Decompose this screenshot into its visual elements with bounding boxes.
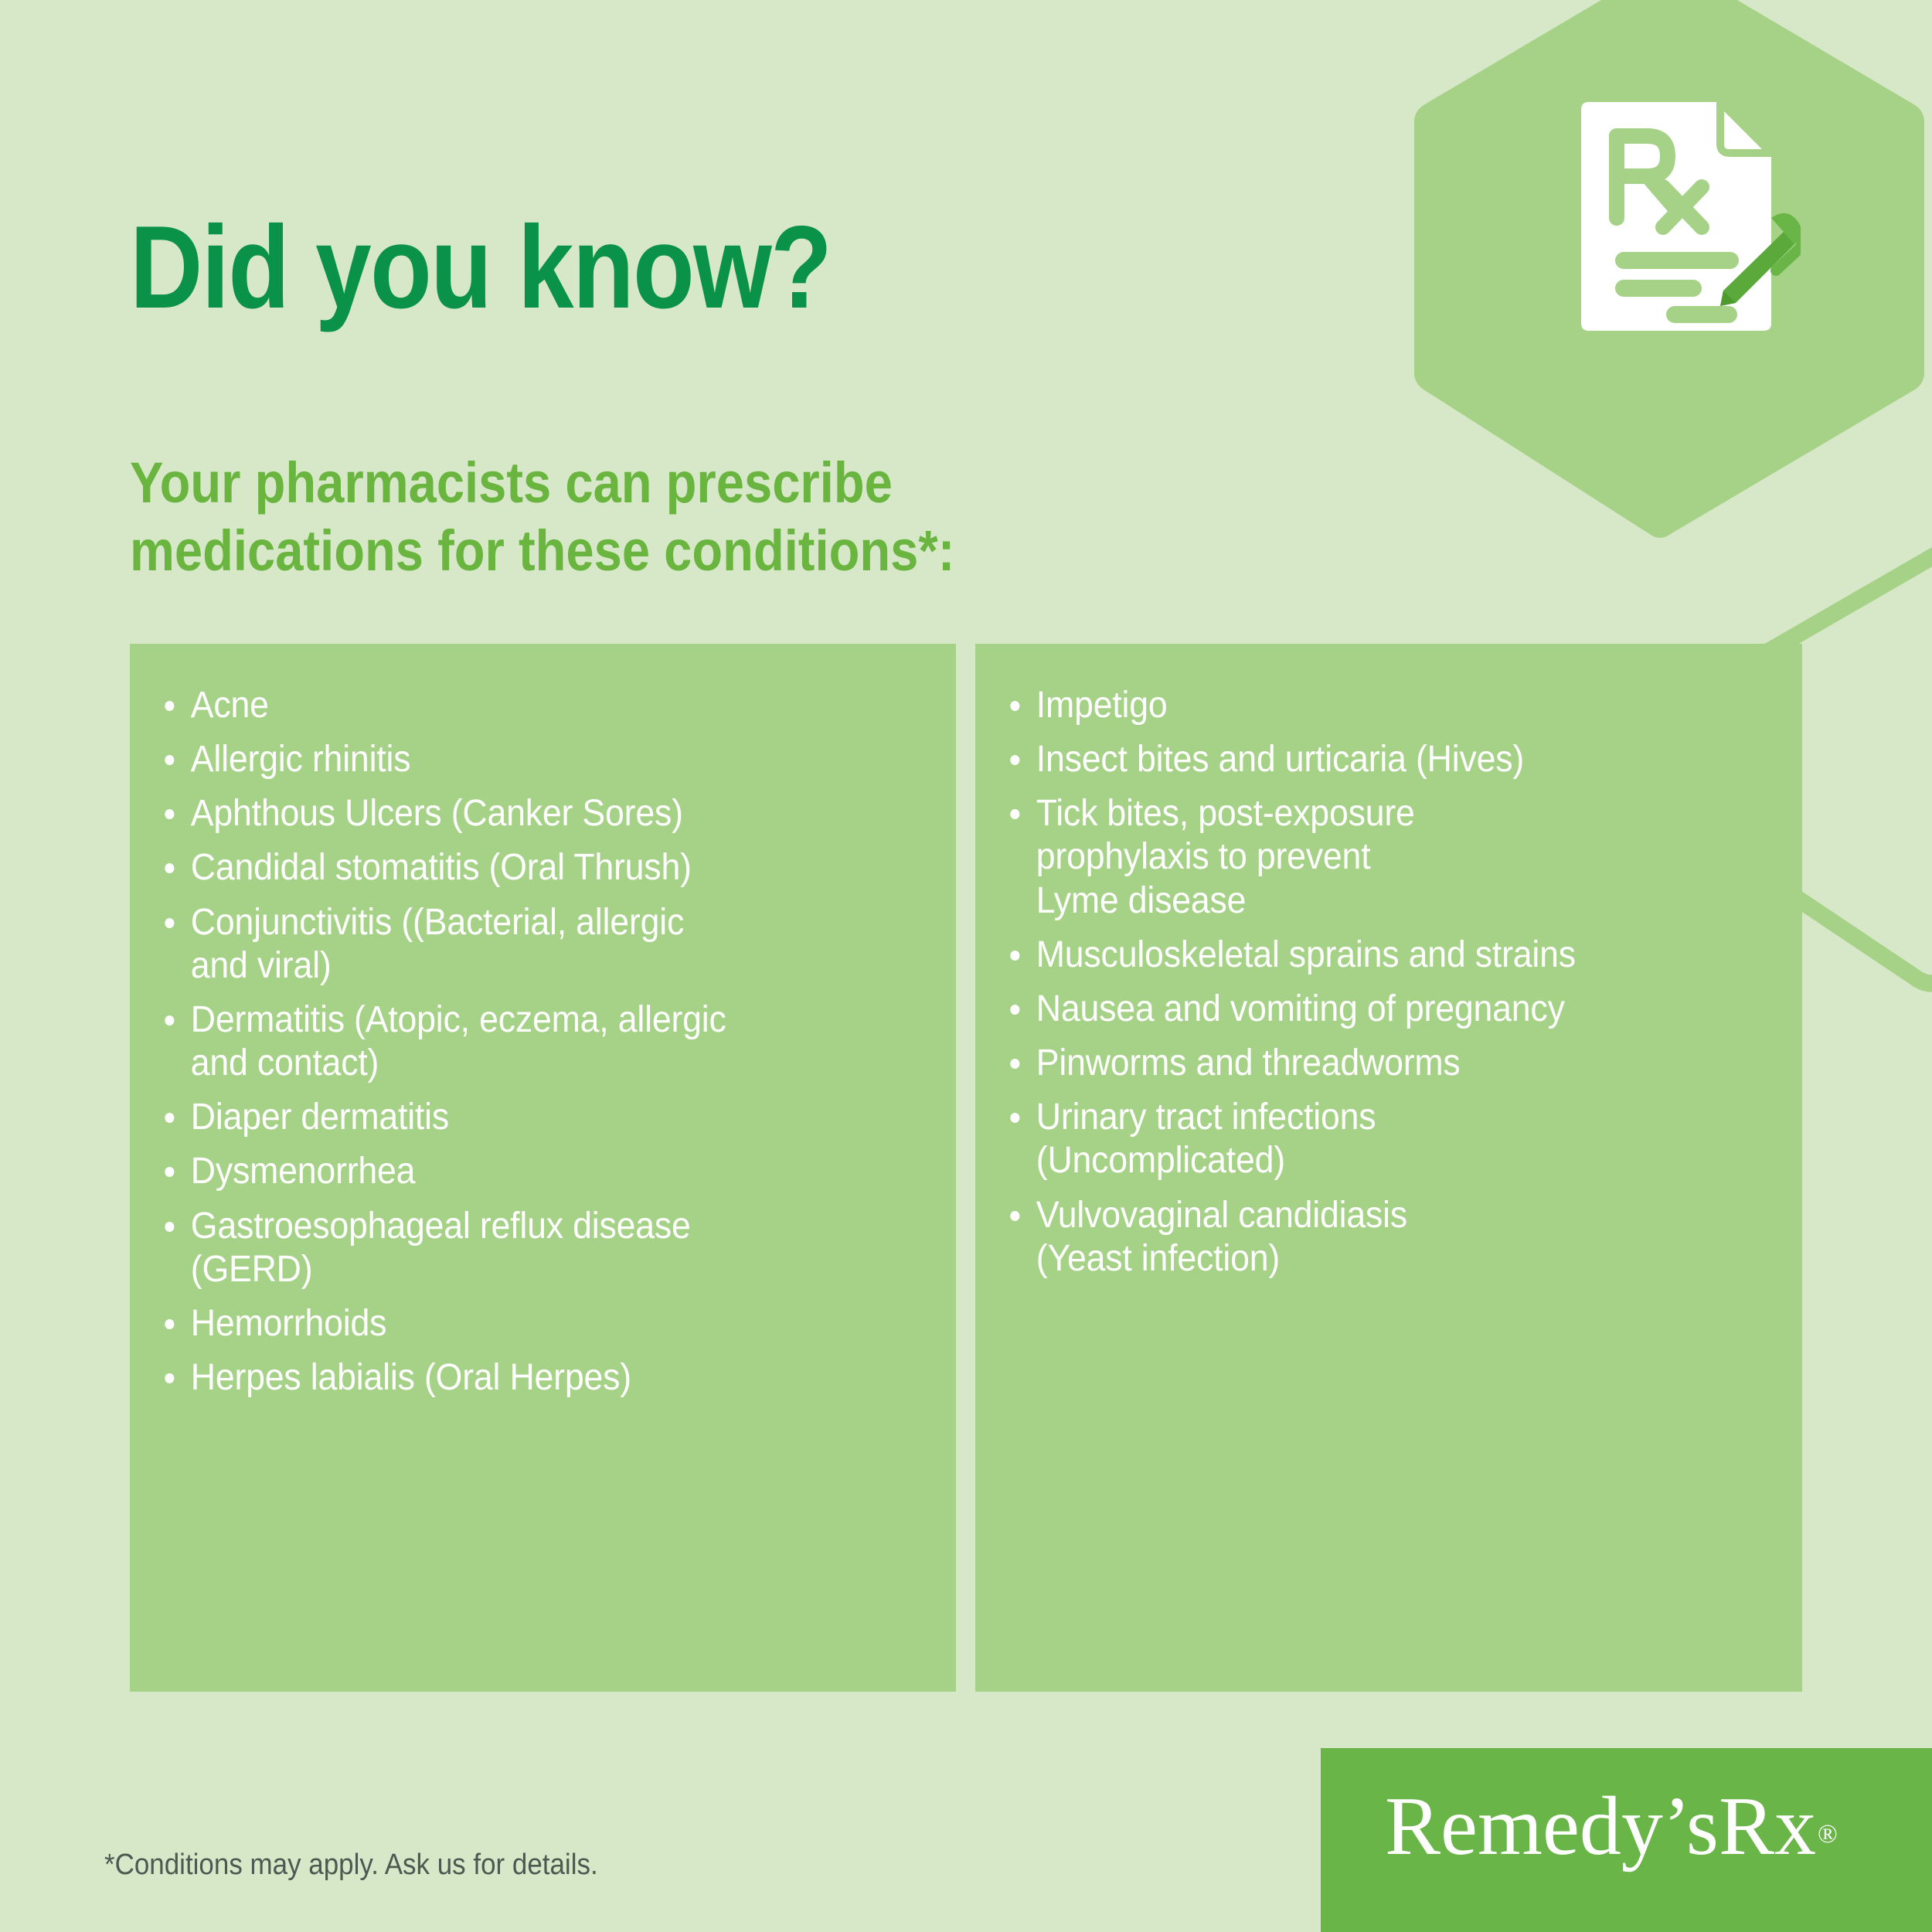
conditions-panel-left: AcneAllergic rhinitisAphthous Ulcers (Ca… (130, 644, 956, 1692)
condition-right-item: Vulvovaginal candidiasis (Yeast infectio… (1003, 1194, 1720, 1281)
poster-canvas: Did you know? Your pharmacists can presc… (0, 0, 1932, 1932)
conditions-list-left: AcneAllergic rhinitisAphthous Ulcers (Ca… (158, 684, 928, 1400)
condition-left-item: Herpes labialis (Oral Herpes) (158, 1356, 874, 1400)
prescription-document-icon (1577, 100, 1801, 332)
condition-left-item: Dysmenorrhea (158, 1150, 874, 1193)
conditions-panel-right: ImpetigoInsect bites and urticaria (Hive… (975, 644, 1802, 1692)
disclaimer-footnote: *Conditions may apply. Ask us for detail… (104, 1849, 598, 1882)
condition-right-item: Insect bites and urticaria (Hives) (1003, 738, 1720, 781)
condition-right-item: Nausea and vomiting of pregnancy (1003, 988, 1720, 1031)
page-title: Did you know? (130, 209, 831, 326)
conditions-list-right: ImpetigoInsect bites and urticaria (Hive… (1003, 684, 1774, 1281)
condition-right-item: Tick bites, post-exposure prophylaxis to… (1003, 792, 1720, 922)
condition-left-item: Aphthous Ulcers (Canker Sores) (158, 792, 874, 835)
condition-right-item: Pinworms and threadworms (1003, 1042, 1720, 1085)
condition-left-item: Acne (158, 684, 874, 727)
condition-right-item: Musculoskeletal sprains and strains (1003, 934, 1720, 977)
condition-left-item: Hemorrhoids (158, 1302, 874, 1345)
condition-right-item: Urinary tract infections (Uncomplicated) (1003, 1096, 1720, 1182)
condition-left-item: Gastroesophageal reflux disease (GERD) (158, 1205, 874, 1291)
condition-left-item: Diaper dermatitis (158, 1096, 874, 1139)
brand-logo-text: Remedy’sRx® (1385, 1785, 1836, 1869)
brand-name: Remedy’sRx (1385, 1781, 1816, 1872)
condition-left-item: Dermatitis (Atopic, eczema, allergic and… (158, 998, 874, 1085)
condition-left-item: Candidal stomatitis (Oral Thrush) (158, 846, 874, 889)
condition-left-item: Allergic rhinitis (158, 738, 874, 781)
condition-left-item: Conjunctivitis ((Bacterial, allergic and… (158, 901, 874, 988)
page-subtitle: Your pharmacists can prescribe medicatio… (130, 449, 954, 584)
condition-right-item: Impetigo (1003, 684, 1720, 727)
registered-trademark-icon: ® (1818, 1820, 1838, 1849)
